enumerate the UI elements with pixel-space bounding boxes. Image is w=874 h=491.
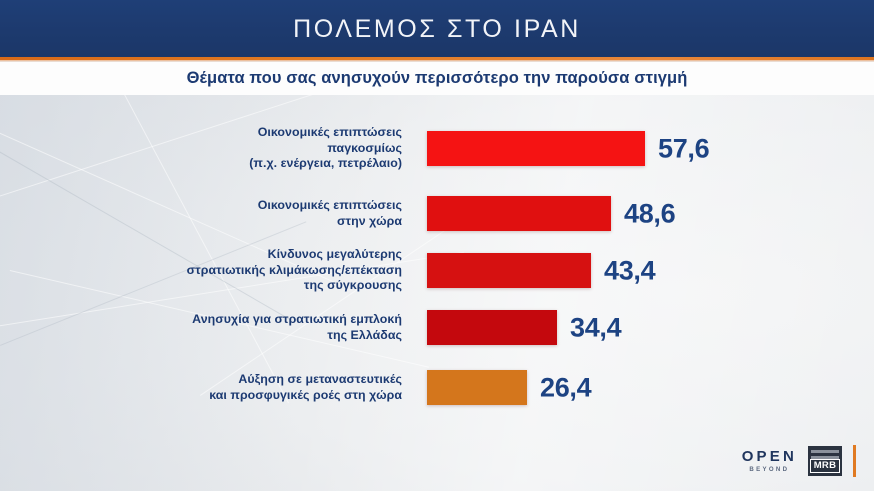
bar-category-label-line: στην χώρα (72, 214, 402, 230)
bar-value-label: 43,4 (604, 255, 655, 286)
bar (427, 253, 591, 288)
bar-category-label-line: στρατιωτικής κλιμάκωσης/επέκταση (72, 263, 402, 279)
bar-category-label: Οικονομικές επιπτώσειςστην χώρα (72, 198, 402, 229)
chart-subtitle: Θέματα που σας ανησυχούν περισσότερο την… (0, 67, 874, 89)
bar-value-label: 57,6 (658, 133, 709, 164)
mrb-logo-text: MRB (810, 459, 841, 473)
slide-root: ΠΟΛΕΜΟΣ ΣΤΟ ΙΡΑΝ Θέματα που σας ανησυχού… (0, 0, 874, 491)
footer-logos: OPEN BEYOND MRB (739, 445, 856, 477)
chart-stage: Οικονομικές επιπτώσειςπαγκοσμίως(π.χ. εν… (0, 95, 874, 491)
bar-category-label-line: Οικονομικές επιπτώσεις (72, 125, 402, 141)
bar-category-label: Ανησυχία για στρατιωτική εμπλοκήτης Ελλά… (72, 312, 402, 343)
bar-container: 43,4 (427, 253, 591, 288)
bar-container: 34,4 (427, 310, 557, 345)
bar (427, 131, 645, 166)
open-beyond-logo: OPEN BEYOND (739, 449, 797, 473)
bar-category-label-line: Κίνδυνος μεγαλύτερης (72, 247, 402, 263)
bar-container: 48,6 (427, 196, 611, 231)
bar-category-label-line: της σύγκρουσης (72, 278, 402, 294)
mrb-logo: MRB (808, 446, 842, 476)
bar-chart: Οικονομικές επιπτώσειςπαγκοσμίως(π.χ. εν… (0, 95, 874, 491)
bar-category-label-line: Οικονομικές επιπτώσεις (72, 198, 402, 214)
bar-category-label: Κίνδυνος μεγαλύτερηςστρατιωτικής κλιμάκω… (72, 247, 402, 294)
chart-row: Αύξηση σε μεταναστευτικέςκαι προσφυγικές… (0, 370, 874, 405)
chart-row: Ανησυχία για στρατιωτική εμπλοκήτης Ελλά… (0, 310, 874, 345)
open-logo-word: OPEN (742, 449, 797, 464)
bar-container: 57,6 (427, 131, 645, 166)
bar-category-label-line: παγκοσμίως (72, 141, 402, 157)
bar (427, 310, 557, 345)
bar-value-label: 26,4 (540, 372, 591, 403)
bar-category-label-line: Ανησυχία για στρατιωτική εμπλοκή (72, 312, 402, 328)
bar-container: 26,4 (427, 370, 527, 405)
chart-row: Κίνδυνος μεγαλύτερηςστρατιωτικής κλιμάκω… (0, 253, 874, 288)
bar-value-label: 34,4 (570, 312, 621, 343)
chart-row: Οικονομικές επιπτώσειςπαγκοσμίως(π.χ. εν… (0, 131, 874, 166)
bar-category-label: Οικονομικές επιπτώσειςπαγκοσμίως(π.χ. εν… (72, 125, 402, 172)
accent-divider (853, 445, 856, 477)
open-logo-tagline: BEYOND (749, 467, 789, 473)
bar (427, 196, 611, 231)
bar (427, 370, 527, 405)
bar-category-label-line: (π.χ. ενέργεια, πετρέλαιο) (72, 156, 402, 172)
bar-category-label-line: της Ελλάδας (72, 328, 402, 344)
bar-category-label: Αύξηση σε μεταναστευτικέςκαι προσφυγικές… (72, 372, 402, 403)
bar-value-label: 48,6 (624, 198, 675, 229)
bar-category-label-line: και προσφυγικές ροές στη χώρα (72, 388, 402, 404)
bar-category-label-line: Αύξηση σε μεταναστευτικές (72, 372, 402, 388)
page-title: ΠΟΛΕΜΟΣ ΣΤΟ ΙΡΑΝ (0, 15, 874, 43)
chart-row: Οικονομικές επιπτώσειςστην χώρα48,6 (0, 196, 874, 231)
